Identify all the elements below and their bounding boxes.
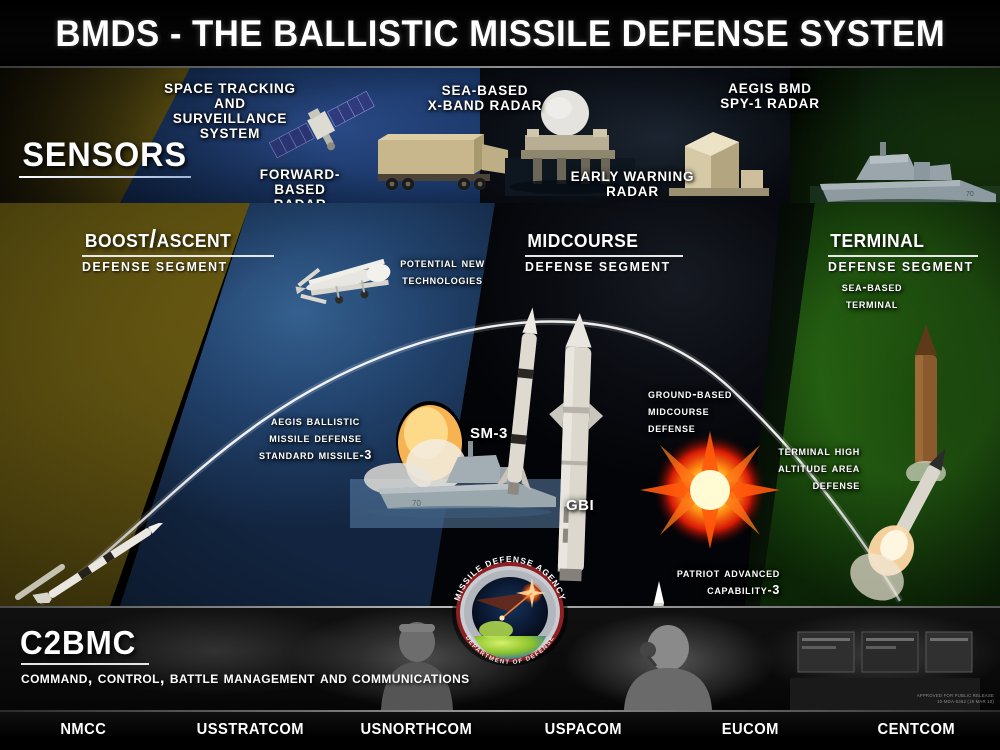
cocom-item-eucom[interactable]: EUCOM: [673, 721, 826, 739]
cocom-item-centcom[interactable]: CENTCOM: [840, 721, 993, 739]
midcourse-title: Midcourse: [527, 225, 680, 254]
label-sea-based-terminal: Sea-Based Terminal: [822, 279, 922, 313]
sensors-heading-underline: [19, 176, 191, 178]
poster-title-bar: BMDS - THE BALLISTIC MISSILE DEFENSE SYS…: [0, 0, 1000, 68]
cocom-top-divider: [0, 710, 1000, 712]
label-aegis-ballistic-missile-defense: Aegis Ballistic Missile Defense Standard…: [248, 413, 383, 464]
cocom-item-nmcc[interactable]: NMCC: [7, 721, 160, 739]
aegis-bmd-ship-image: 70: [810, 140, 1000, 203]
label-forward-based-radar: Forward-Based Radar: [240, 168, 360, 203]
operator-silhouette-right: [590, 618, 740, 710]
midcourse-underline: [525, 255, 683, 257]
label-ground-based-midcourse-defense: Ground-based Midcourse Defense: [648, 386, 768, 437]
threat-missile-image: [10, 523, 190, 603]
title-divider: [0, 66, 1000, 68]
label-aegis-bmd-spy-1-radar: Aegis BMD SPY-1 Radar: [700, 82, 840, 112]
label-early-warning-radar: Early Warning Radar: [570, 170, 695, 200]
thaad-launch-image: [840, 443, 975, 606]
terminal-title: Terminal: [830, 225, 979, 254]
boost-ascent-subtitle: DEFENSE SEGMENT: [82, 259, 264, 274]
terminal-underline: [828, 255, 978, 257]
heading-terminal: Terminal DEFENSE SEGMENT: [828, 225, 981, 274]
sensors-heading: SENSORS: [22, 136, 187, 175]
boost-ascent-underline: [82, 255, 274, 257]
label-space-tracking-and-surveillance-system: Space Tracking and Surveillance System: [155, 82, 305, 142]
boost-ascent-title: Boost/Ascent: [85, 225, 271, 254]
page-title: BMDS - THE BALLISTIC MISSILE DEFENSE SYS…: [55, 13, 945, 55]
forward-based-radar-image: [352, 128, 512, 198]
label-terminal-high-altitude-area-defense: Terminal High Altitude Area Defense: [742, 443, 860, 494]
cocom-bar: NMCC USSTRATCOM USNORTHCOM USPACOM EUCOM…: [0, 710, 1000, 750]
cocom-item-usstratcom[interactable]: USSTRATCOM: [173, 721, 326, 739]
midcourse-subtitle: DEFENSE SEGMENT: [525, 259, 675, 274]
cocom-item-uspacom[interactable]: USPACOM: [507, 721, 660, 739]
public-release-stamp: APPROVED FOR PUBLIC RELEASE 10-MDA-5362 …: [917, 693, 994, 704]
label-potential-new-technologies: Potential New Technologies: [390, 255, 495, 289]
mda-seal: MISSILE DEFENSE AGENCY DEPARTMENT OF DEF…: [440, 556, 580, 668]
defense-segments-stage: 70: [0, 203, 1000, 606]
label-gbi: GBI: [566, 497, 594, 514]
terminal-subtitle: DEFENSE SEGMENT: [828, 259, 974, 274]
label-patriot-advanced-capability-3: Patriot Advanced Capability-3: [640, 565, 780, 599]
cocom-item-usnorthcom[interactable]: USNORTHCOM: [340, 721, 493, 739]
label-sea-based-x-band-radar: Sea-Based X-Band Radar: [425, 84, 545, 114]
heading-boost-ascent: Boost/Ascent DEFENSE SEGMENT: [82, 225, 274, 274]
c2bmc-title: C2BMC: [20, 624, 136, 662]
gbi-interceptor-image: [540, 311, 610, 586]
bmds-poster: BMDS - THE BALLISTIC MISSILE DEFENSE SYS…: [0, 0, 1000, 750]
c2bmc-subtitle: Command, Control, Battle Management and …: [21, 669, 470, 688]
heading-midcourse: Midcourse DEFENSE SEGMENT: [525, 225, 683, 274]
label-sm-3: SM-3: [470, 425, 508, 442]
svg-text:70: 70: [966, 191, 974, 198]
c2bmc-underline: [21, 663, 149, 665]
